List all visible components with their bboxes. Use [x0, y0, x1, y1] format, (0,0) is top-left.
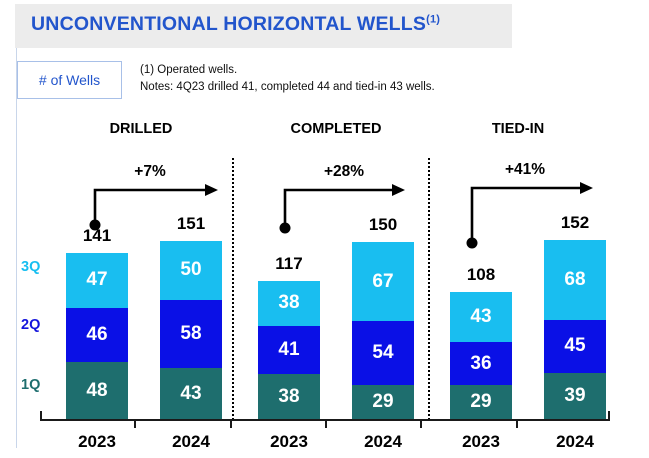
bar-segment-q1: 38	[258, 374, 320, 419]
year-label-drilled-2023: 2023	[47, 432, 147, 452]
bar-segment-q2: 45	[544, 320, 606, 373]
bar-segment-q2: 36	[450, 342, 512, 384]
growth-label-completed: +28%	[284, 163, 404, 181]
year-label-completed-2023: 2023	[239, 432, 339, 452]
bar-segment-q2: 58	[160, 300, 222, 368]
x-axis-cap-right	[608, 411, 610, 421]
bar-segment-q1: 43	[160, 368, 222, 419]
group-header-drilled: DRILLED	[41, 121, 241, 137]
bar-completed-2024[interactable]: 675429	[352, 242, 414, 419]
group-separator-2	[428, 158, 430, 420]
bar-tied-in-2024[interactable]: 684539	[544, 240, 606, 419]
bar-segment-q1: 39	[544, 373, 606, 419]
bar-segment-q3: 50	[160, 241, 222, 300]
footnotes: (1) Operated wells. Notes: 4Q23 drilled …	[140, 62, 435, 96]
bar-segment-q2: 46	[66, 308, 128, 362]
group-separator-1	[232, 158, 234, 420]
growth-label-tied-in: +41%	[465, 161, 585, 179]
x-axis-tick-4	[420, 419, 422, 428]
bar-segment-q1: 29	[352, 385, 414, 419]
left-vertical-rule	[16, 48, 17, 448]
growth-label-drilled: +7%	[90, 163, 210, 181]
legend-item-3q: 3Q	[21, 259, 40, 275]
total-label-tied-in-2023: 108	[431, 265, 531, 285]
units-box: # of Wells	[17, 61, 122, 99]
total-label-drilled-2024: 151	[141, 214, 241, 234]
bar-segment-q2: 54	[352, 321, 414, 385]
bar-segment-q3: 68	[544, 240, 606, 320]
bar-tied-in-2023[interactable]: 433629	[450, 292, 512, 419]
group-header-tied-in: TIED-IN	[418, 121, 618, 137]
year-label-completed-2024: 2024	[333, 432, 433, 452]
bar-drilled-2023[interactable]: 474648	[66, 253, 128, 419]
footnote-line-1: (1) Operated wells.	[140, 62, 435, 79]
x-axis	[40, 419, 610, 428]
legend-item-1q: 1Q	[21, 377, 40, 393]
x-axis-tick-3	[325, 419, 327, 428]
x-axis-tick-5	[516, 419, 518, 428]
page-title: UNCONVENTIONAL HORIZONTAL WELLS(1)	[31, 13, 440, 36]
footnote-line-2: Notes: 4Q23 drilled 41, completed 44 and…	[140, 79, 435, 96]
total-label-completed-2023: 117	[239, 254, 339, 274]
x-axis-tick-2	[230, 419, 232, 428]
total-label-drilled-2023: 141	[47, 226, 147, 246]
year-label-tied-in-2023: 2023	[431, 432, 531, 452]
x-axis-cap-left	[40, 411, 42, 421]
bar-segment-q1: 29	[450, 385, 512, 419]
bar-segment-q1: 48	[66, 362, 128, 419]
bar-drilled-2024[interactable]: 505843	[160, 241, 222, 419]
bar-completed-2023[interactable]: 384138	[258, 281, 320, 419]
legend-item-2q: 2Q	[21, 317, 40, 333]
page-title-text: UNCONVENTIONAL HORIZONTAL WELLS	[31, 13, 426, 35]
bar-segment-q3: 43	[450, 292, 512, 343]
bar-segment-q3: 38	[258, 281, 320, 326]
units-box-label: # of Wells	[39, 72, 100, 88]
x-axis-tick-1	[134, 419, 136, 428]
bar-segment-q2: 41	[258, 326, 320, 374]
total-label-tied-in-2024: 152	[525, 213, 625, 233]
year-label-drilled-2024: 2024	[141, 432, 241, 452]
group-header-completed: COMPLETED	[236, 121, 436, 137]
year-label-tied-in-2024: 2024	[525, 432, 625, 452]
bar-segment-q3: 67	[352, 242, 414, 321]
bar-segment-q3: 47	[66, 253, 128, 308]
page-title-footnote-marker: (1)	[426, 14, 440, 26]
total-label-completed-2024: 150	[333, 215, 433, 235]
